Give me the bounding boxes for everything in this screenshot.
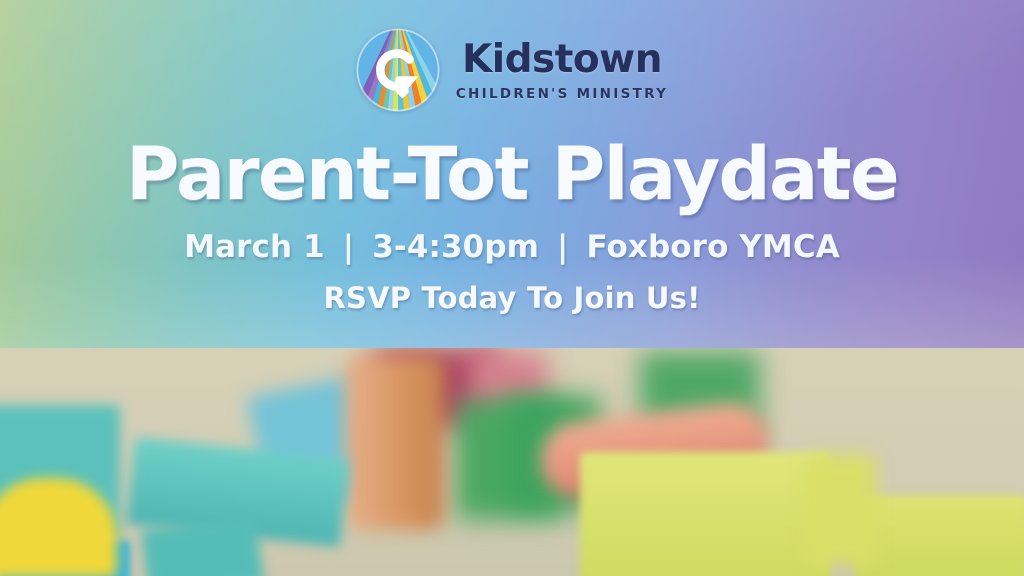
photo-block-cylinder-tan: [345, 355, 445, 530]
event-details: March 1 | 3-4:30pm | Foxboro YMCA: [184, 229, 840, 265]
brand-name: Kidstown: [462, 40, 662, 80]
event-location: Foxboro YMCA: [586, 229, 839, 265]
event-date: March 1: [184, 229, 325, 265]
detail-separator-2: |: [539, 229, 586, 265]
flyer-canvas: Kidstown CHILDREN'S MINISTRY Parent-Tot …: [0, 0, 1024, 576]
starburst-g-monogram-icon: [356, 28, 440, 112]
photo-block-chartreuse-small: [855, 495, 1024, 576]
brand-tagline: CHILDREN'S MINISTRY: [456, 86, 668, 102]
event-time: 3-4:30pm: [372, 229, 539, 265]
rsvp-call-to-action: RSVP Today To Join Us!: [323, 281, 700, 315]
brand-lockup: Kidstown CHILDREN'S MINISTRY: [356, 28, 668, 112]
event-headline: Parent-Tot Playdate: [126, 136, 898, 213]
detail-separator-1: |: [325, 229, 372, 265]
brand-wordmark: Kidstown CHILDREN'S MINISTRY: [456, 38, 668, 103]
photo-block-yellow-mid: [806, 455, 876, 565]
banner-content: Kidstown CHILDREN'S MINISTRY Parent-Tot …: [0, 0, 1024, 348]
photo-block-chartreuse-large: [580, 452, 830, 576]
